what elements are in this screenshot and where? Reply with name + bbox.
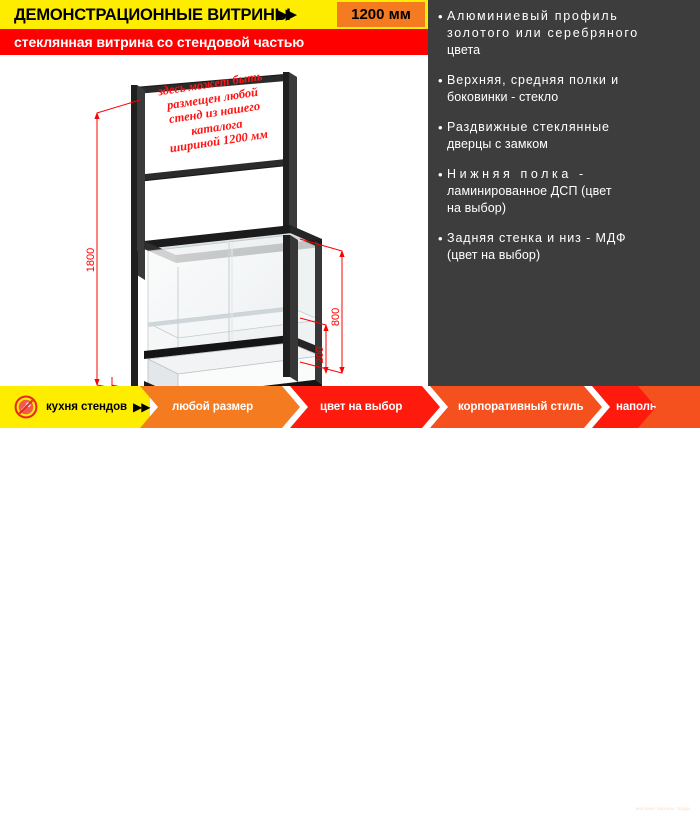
list-item: • Нижняя полка - ламинированное ДСП (цве… [438,166,696,217]
list-item: • Раздвижные стеклянные дверцы с замком [438,119,696,153]
title-arrows-icon: ▶▶ [276,4,295,26]
footer-segment-any-size[interactable]: любой размер [140,386,300,428]
title-bar: ДЕМОНСТРАЦИОННЫЕ ВИТРИНЫ ▶▶ 1200 мм [0,0,428,29]
footer-label-color-choice: цвет на выбор [320,401,402,413]
feature-line: Нижняя полка - [447,166,612,183]
footer-segment-corporate-style[interactable]: корпоративный стиль [430,386,602,428]
feature-line: дверцы с замком [447,136,610,153]
feature-line: Алюминиевый профиль [447,8,639,25]
feature-line: боковинки - стекло [447,89,619,106]
feature-line: на выбор) [447,200,612,217]
dim-height-total: 1800 [85,248,97,272]
feature-line: Верхняя, средняя полки и [447,72,619,89]
dim-height-case: 800 [330,308,342,326]
poster-root: ДЕМОНСТРАЦИОННЫЕ ВИТРИНЫ ▶▶ 1200 мм стек… [0,0,700,428]
feature-line: золотого или серебряного [447,25,639,42]
features-list: • Алюминиевый профиль золотого или сереб… [438,8,696,277]
feature-text: Раздвижные стеклянные дверцы с замком [447,119,610,153]
bullet-dot-icon: • [438,8,447,59]
size-badge-label: 1200 мм [351,6,411,23]
footer-label-corporate-style: корпоративный стиль [458,401,583,413]
size-badge: 1200 мм [337,2,425,27]
logo-mark-icon: m [650,777,677,804]
footer-chevrons-icon: ▶▶ [133,400,149,414]
feature-line: ламинированное ДСП (цвет [447,183,612,200]
list-item: • Верхняя, средняя полки и боковинки - с… [438,72,696,106]
feature-line: (цвет на выбор) [447,247,626,264]
feature-text: Задняя стенка и низ - МДФ (цвет на выбор… [447,230,626,264]
brand-logo[interactable]: m магазин охраны труда [626,774,700,814]
bullet-dot-icon: • [438,119,447,153]
no-entry-icon [14,395,38,419]
feature-text: Алюминиевый профиль золотого или серебря… [447,8,639,59]
footer-segment-color-choice[interactable]: цвет на выбор [290,386,440,428]
feature-line: Задняя стенка и низ - МДФ [447,230,626,247]
product-technical-drawing: 1800 800 200 1200 400 [0,55,428,386]
feature-line: Раздвижные стеклянные [447,119,610,136]
bullet-dot-icon: • [438,72,447,106]
subtitle-bar: стеклянная витрина со стендовой частью [0,29,428,55]
feature-text: Нижняя полка - ламинированное ДСП (цвет … [447,166,612,217]
footer-label-kitchen: кухня стендов [46,401,127,413]
bullet-dot-icon: • [438,230,447,264]
left-column: ДЕМОНСТРАЦИОННЫЕ ВИТРИНЫ ▶▶ 1200 мм стек… [0,0,428,386]
bullet-dot-icon: • [438,166,447,217]
feature-text: Верхняя, средняя полки и боковинки - сте… [447,72,619,106]
footer-segment-kitchen[interactable]: кухня стендов ▶▶ [0,386,150,428]
page-subtitle: стеклянная витрина со стендовой частью [14,29,304,55]
logo-caption: магазин охраны труда [636,806,690,811]
list-item: • Алюминиевый профиль золотого или сереб… [438,8,696,59]
feature-line: цвета [447,42,639,59]
features-panel: • Алюминиевый профиль золотого или сереб… [428,0,700,386]
footer-banner: кухня стендов ▶▶ любой размер цвет на вы… [0,386,700,428]
stand-panel [136,75,286,181]
dim-height-base: 200 [315,346,326,363]
logo-letter: m [657,784,669,797]
list-item: • Задняя стенка и низ - МДФ (цвет на выб… [438,230,696,264]
footer-label-any-size: любой размер [172,401,253,413]
